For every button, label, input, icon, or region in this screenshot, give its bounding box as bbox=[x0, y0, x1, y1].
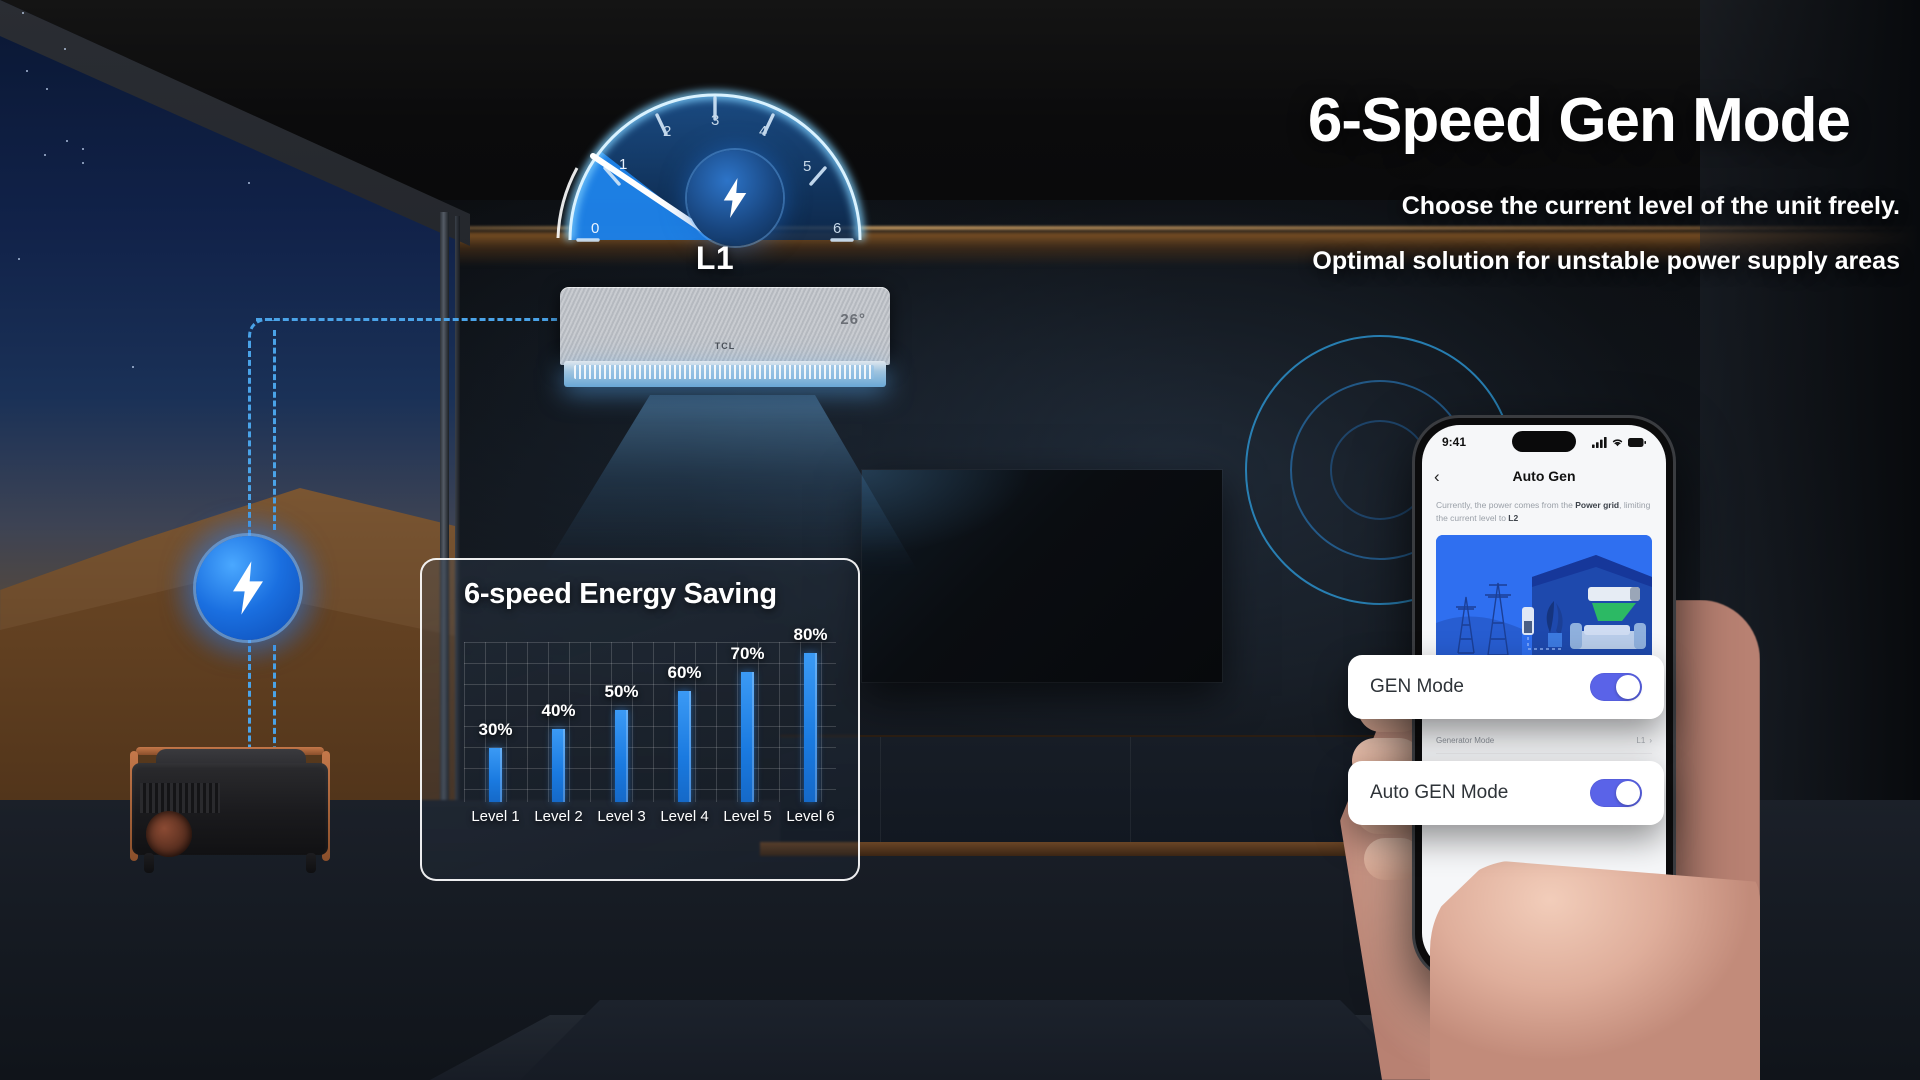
chevron-right-icon: › bbox=[1649, 736, 1652, 745]
hand-fingers-front bbox=[1430, 860, 1760, 1080]
generator-mode-row[interactable]: Generator Mode L1 › bbox=[1436, 728, 1652, 754]
ac-grille bbox=[574, 365, 874, 379]
wall-mounted-ac-unit: 26° TCL bbox=[560, 287, 890, 392]
phone-nav-bar: ‹ Auto Gen bbox=[1422, 459, 1666, 493]
finger bbox=[1364, 838, 1422, 880]
generator-leg-left bbox=[144, 853, 154, 873]
chart-bar-value: 80% bbox=[793, 625, 827, 645]
phone-description: Currently, the power comes from the Powe… bbox=[1436, 499, 1652, 525]
lightning-bolt-icon bbox=[720, 176, 750, 220]
ac-front-panel: 26° TCL bbox=[560, 287, 890, 365]
chart-x-label: Level 5 bbox=[716, 808, 779, 825]
chart-x-label: Level 2 bbox=[527, 808, 590, 825]
star bbox=[46, 88, 48, 90]
gauge-tick-0: 0 bbox=[591, 220, 599, 237]
chart-bars: 30% 40% 50% 60% 70% 80% bbox=[464, 620, 844, 802]
chart-bar-group: 80% bbox=[779, 620, 842, 802]
generator-mode-value-wrap: L1 › bbox=[1636, 736, 1652, 745]
desc-power-grid: Power grid bbox=[1575, 500, 1619, 510]
chart-x-axis-labels: Level 1 Level 2 Level 3 Level 4 Level 5 … bbox=[464, 808, 844, 825]
star bbox=[66, 140, 68, 142]
gen-mode-toggle[interactable] bbox=[1590, 673, 1642, 701]
star bbox=[82, 162, 84, 164]
chart-x-label: Level 1 bbox=[464, 808, 527, 825]
signal-bars-icon bbox=[1592, 437, 1607, 448]
chart-bar-group: 30% bbox=[464, 620, 527, 802]
chart-bar bbox=[552, 729, 565, 802]
auto-gen-mode-card[interactable]: Auto GEN Mode bbox=[1348, 761, 1664, 825]
chart-bar-group: 60% bbox=[653, 620, 716, 802]
phone-page-title: Auto Gen bbox=[1422, 468, 1666, 484]
connection-path-top bbox=[256, 318, 566, 321]
generator-leg-right bbox=[306, 853, 316, 873]
status-time: 9:41 bbox=[1442, 435, 1466, 449]
chart-bar-value: 60% bbox=[667, 663, 701, 683]
chart-title: 6-speed Energy Saving bbox=[422, 578, 858, 611]
generator-mode-label: Generator Mode bbox=[1436, 736, 1494, 745]
power-grid-to-home-illustration bbox=[1436, 535, 1652, 663]
chart-x-label: Level 3 bbox=[590, 808, 653, 825]
gauge-level-label: L1 bbox=[545, 240, 885, 277]
gen-mode-card[interactable]: GEN Mode bbox=[1348, 655, 1664, 719]
console-seam bbox=[880, 737, 881, 847]
gauge-tick-4: 4 bbox=[759, 123, 767, 140]
generator-vent bbox=[140, 783, 220, 813]
tv-screen-reflection bbox=[862, 470, 1112, 600]
page-headline: 6-Speed Gen Mode bbox=[1040, 88, 1850, 153]
chart-bar bbox=[489, 748, 502, 802]
desc-prefix: Currently, the power comes from the bbox=[1436, 500, 1575, 510]
energy-saving-chart-panel: 6-speed Energy Saving 30% 40% 50% 60% 70… bbox=[420, 558, 860, 881]
chevron-left-icon[interactable]: ‹ bbox=[1434, 468, 1440, 485]
chart-bar-group: 50% bbox=[590, 620, 653, 802]
gauge-tick-6: 6 bbox=[833, 220, 841, 237]
gen-mode-label: GEN Mode bbox=[1370, 676, 1464, 698]
star bbox=[64, 48, 66, 50]
gauge-tick-1: 1 bbox=[619, 156, 627, 173]
wifi-icon bbox=[1611, 437, 1624, 447]
connection-path-badge-up bbox=[273, 330, 276, 530]
illustration-svg bbox=[1436, 535, 1652, 663]
star bbox=[82, 148, 84, 150]
console-seam bbox=[1130, 737, 1131, 847]
generator-mode-value: L1 bbox=[1636, 736, 1645, 745]
star bbox=[22, 12, 24, 14]
ac-brand-logo: TCL bbox=[715, 341, 736, 351]
chart-bar-value: 40% bbox=[541, 701, 575, 721]
promo-scene: 26° TCL bbox=[0, 0, 1920, 1080]
chart-x-label: Level 6 bbox=[779, 808, 842, 825]
gauge-tick-3: 3 bbox=[711, 112, 719, 129]
chart-bar-group: 40% bbox=[527, 620, 590, 802]
chart-bar bbox=[678, 691, 691, 802]
chart-bar-value: 50% bbox=[604, 682, 638, 702]
auto-gen-mode-toggle[interactable] bbox=[1590, 779, 1642, 807]
chart-bar-value: 70% bbox=[730, 644, 764, 664]
chart-bar bbox=[804, 653, 817, 802]
gauge-tick-2: 2 bbox=[663, 123, 671, 140]
ac-temperature-display: 26° bbox=[840, 311, 866, 328]
chart-bar-group: 70% bbox=[716, 620, 779, 802]
chart-bar bbox=[741, 672, 754, 802]
gauge-hub bbox=[687, 150, 783, 246]
battery-icon bbox=[1628, 438, 1646, 447]
lightning-bolt-icon bbox=[228, 561, 268, 615]
subheadline-line-1: Choose the current level of the unit fre… bbox=[1000, 190, 1900, 224]
star bbox=[44, 154, 46, 156]
desc-level: L2 bbox=[1508, 513, 1518, 523]
star bbox=[18, 258, 20, 260]
chart-x-label: Level 4 bbox=[653, 808, 716, 825]
status-icons bbox=[1592, 437, 1646, 448]
star bbox=[248, 182, 250, 184]
toggle-knob bbox=[1616, 675, 1640, 699]
star bbox=[132, 366, 134, 368]
energy-badge bbox=[196, 536, 300, 640]
portable-generator bbox=[110, 735, 350, 875]
generator-engine-flywheel bbox=[146, 811, 192, 857]
subheadline-line-2: Optimal solution for unstable power supp… bbox=[1000, 245, 1900, 279]
star bbox=[26, 70, 28, 72]
rug bbox=[520, 1000, 1420, 1080]
auto-gen-mode-label: Auto GEN Mode bbox=[1370, 782, 1508, 804]
dynamic-island bbox=[1512, 431, 1576, 452]
gauge-tick-5: 5 bbox=[803, 158, 811, 175]
chart-bar-value: 30% bbox=[478, 720, 512, 740]
chart-bar bbox=[615, 710, 628, 802]
toggle-knob bbox=[1616, 781, 1640, 805]
